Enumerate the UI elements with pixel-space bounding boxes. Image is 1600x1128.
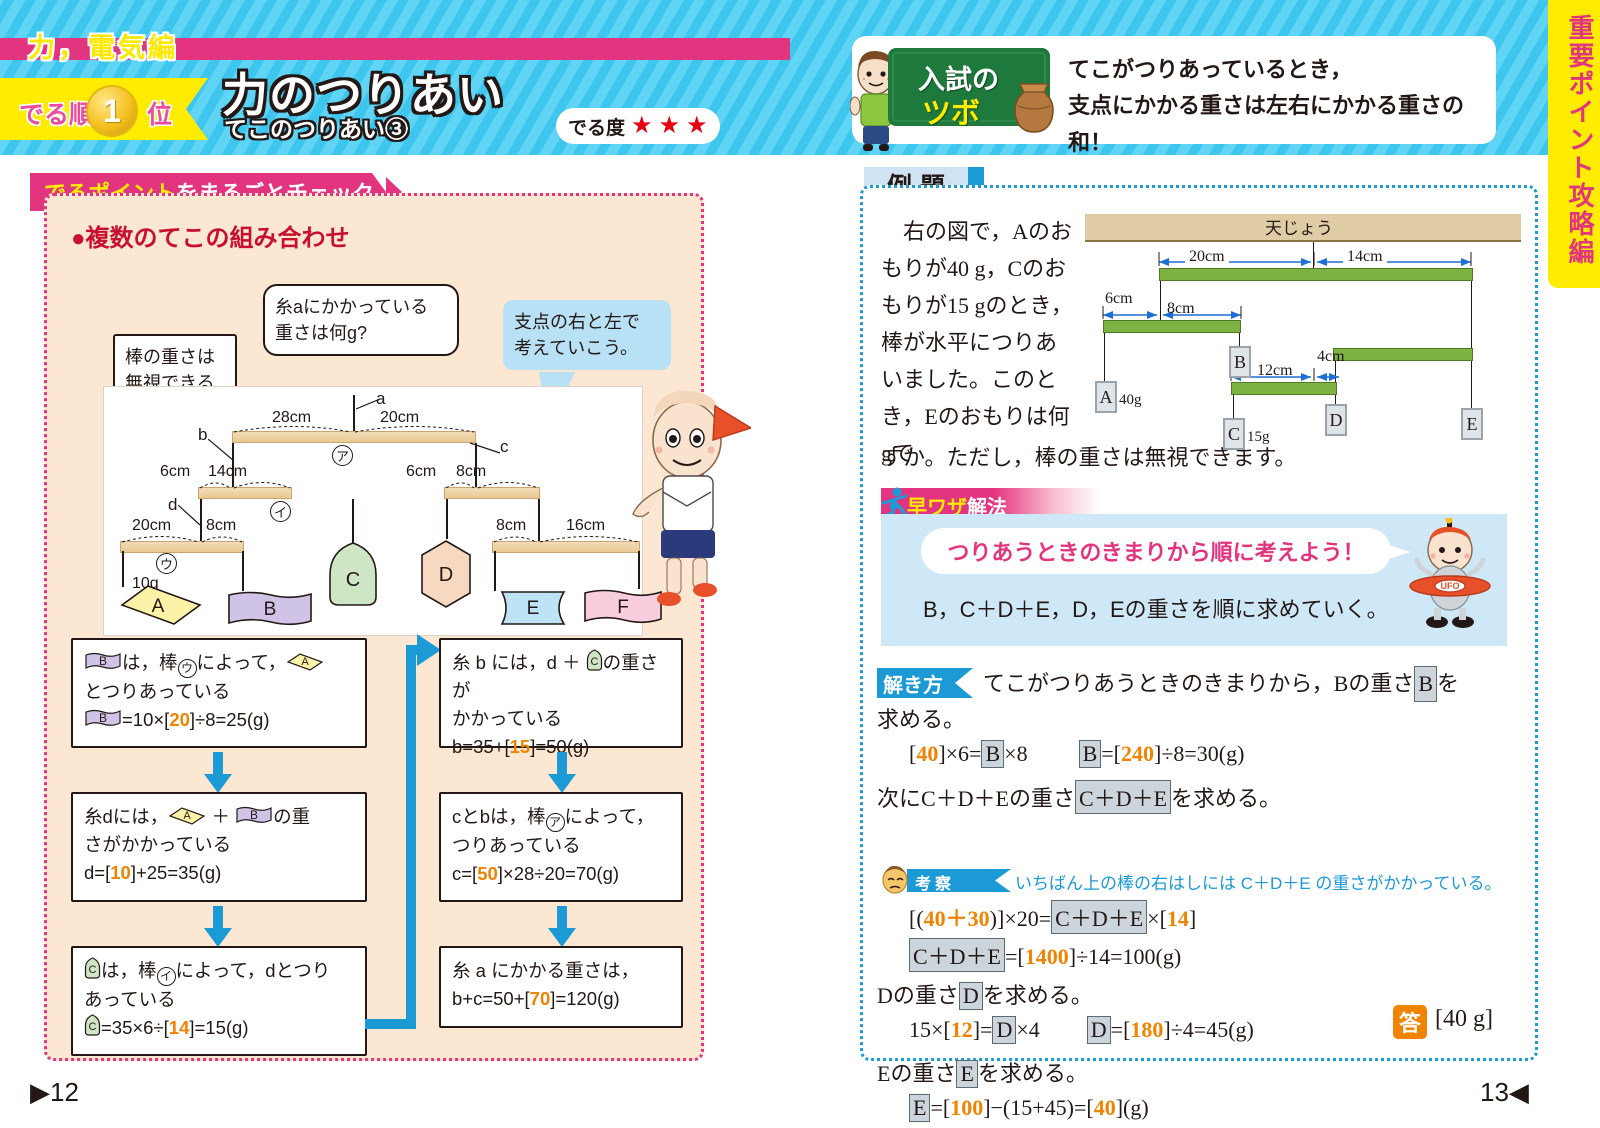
dim-20cm: 20cm: [1185, 248, 1229, 266]
tip-board-line2: ツボ: [922, 90, 980, 132]
pot-icon: [1010, 76, 1058, 134]
bar-label-i: イ: [270, 501, 291, 522]
blank-value: 70: [530, 988, 551, 1009]
step-line: あっている: [84, 986, 354, 1014]
step-box-2: 糸dには， A ＋ B の重 さがかかっている d=[10]+25=35(g): [71, 792, 367, 902]
solution-text: 次にC＋D＋Eの重さ: [877, 786, 1075, 811]
dim-6cm-left: 6cm: [160, 463, 190, 481]
var-box-D: D: [959, 982, 983, 1010]
weight-D: D: [1325, 404, 1347, 436]
callout-line: 棒の重さは: [125, 344, 225, 370]
kousatsu-text: いちばん上の棒の右はしには C＋D＋E の重さがかかっている。: [1015, 869, 1502, 894]
svg-text:C: C: [89, 1021, 97, 1033]
string-to-A: [122, 551, 124, 587]
step-box-4: 糸 b には，d ＋ C の重さが かかっている b=35+[15]=50(g): [439, 638, 683, 748]
blank-value: 14: [169, 1017, 190, 1038]
string-to-C: [1233, 395, 1234, 419]
callout-line: 支点の右と左で: [514, 309, 660, 335]
solution-line-5: Eの重さEを求める。: [877, 1056, 1088, 1088]
down-arrow-icon: [203, 752, 233, 794]
solution-line-1: てこがつりあうときのきまりから，Bの重さBを: [983, 666, 1513, 702]
bar-label-a: ア: [332, 445, 353, 466]
var-box-CDE: C＋D＋E: [1075, 780, 1171, 814]
dim-6cm-right: 6cm: [406, 463, 436, 481]
hayawaza-bubble: つりあうときのきまりから順に考えよう！: [921, 528, 1391, 574]
solution-eq-4: 15×[12]=D×4 D=[180]÷4=45(g): [909, 1016, 1254, 1044]
step-line: B =10×[20]÷8=25(g): [84, 706, 354, 734]
leader-line-b: [208, 439, 238, 463]
dim-12cm: 12cm: [1257, 362, 1293, 380]
solution-text: を求める。: [978, 1061, 1088, 1086]
weight-C-value: 15g: [1247, 429, 1270, 446]
weight-E: E: [492, 589, 574, 627]
callout-line: 重さは何g?: [275, 320, 447, 346]
solution-line-4: Dの重さDを求める。: [877, 978, 1093, 1010]
chapter-label: 力，電気編: [28, 26, 178, 65]
left-page: でるポイントをまるごとチェック ●複数のてこの組み合わせ 棒の重さは 無視できる…: [0, 155, 800, 1128]
blank-value: 40: [916, 741, 938, 766]
solution-text: Eの重さ: [877, 1061, 956, 1086]
arc-dims-i: [198, 477, 292, 489]
problem-statement-col1: 右の図で，Aのおもりが40 g，Cのおもりが15 gのとき，棒が水平につりあいま…: [881, 214, 1077, 473]
callout-line: 考えていこう。: [514, 335, 660, 361]
callout-hint: 支点の右と左で 考えていこう。: [503, 300, 671, 370]
weight-A: A: [1095, 381, 1117, 413]
step-line: つりあっている: [452, 832, 670, 860]
star-icon: ★: [659, 114, 681, 138]
page-subtitle: てこのつりあい③: [224, 118, 408, 141]
section-heading: ●複数のてこの組み合わせ: [71, 218, 350, 253]
thinking-face-icon: [881, 864, 909, 894]
solution-eq-3: C＋D＋E=[1400]÷14=100(g): [909, 938, 1181, 972]
string-label-d: d: [168, 495, 177, 515]
tag-A-icon: A: [286, 652, 324, 671]
string-to-E: [1471, 361, 1472, 409]
callout-line: 糸aにかかっている: [275, 294, 447, 320]
down-arrow-icon: [547, 752, 577, 794]
blank-value: 1400: [1025, 944, 1069, 969]
ceiling-label: 天じょう: [1081, 214, 1517, 239]
lever-figure: a 28cm 20cm ア b c: [103, 386, 643, 636]
blank-value: 240: [1121, 741, 1154, 766]
solution-text: を: [1437, 671, 1459, 696]
solution-eq-1: [40]×6=B×8 B=[240]÷8=30(g): [909, 740, 1244, 768]
var-box-CDE: C＋D＋E: [909, 938, 1005, 972]
weight-B: B: [226, 589, 314, 629]
down-arrow-icon: [547, 906, 577, 948]
textbook-spread: 力，電気編 でる順 1 位 力のつりあい てこのつりあい③ でる度 ★ ★ ★: [0, 0, 1600, 1128]
weight-C: C: [326, 541, 380, 607]
step-line: 糸 b には，d ＋ C の重さが: [452, 649, 670, 705]
svg-text:D: D: [439, 564, 453, 586]
step-line: d=[10]+25=35(g): [84, 859, 354, 887]
star-icon: ★: [686, 114, 708, 138]
weight-C: C: [1223, 418, 1245, 450]
step-line: かかっている: [452, 705, 670, 733]
page-number-left: ▶12: [30, 1077, 79, 1108]
leader-line-d: [178, 505, 202, 527]
example-panel: 右の図で，Aのおもりが40 g，Cのおもりが15 gのとき，棒が水平につりあいま…: [860, 185, 1538, 1061]
string-to-A: [1104, 333, 1105, 381]
string-to-B: [242, 551, 244, 591]
var-box-E: E: [956, 1060, 977, 1088]
svg-text:B: B: [99, 711, 107, 725]
tag-B-icon: B: [235, 806, 273, 825]
frequency-badge: でる度 ★ ★ ★: [556, 108, 720, 144]
blank-value: 180: [1130, 1017, 1163, 1042]
string-label-b: b: [198, 425, 207, 445]
var-box-D: D: [992, 1016, 1016, 1044]
var-box-CDE: C＋D＋E: [1051, 900, 1147, 934]
svg-text:C: C: [89, 964, 97, 976]
flow-connector: [365, 628, 441, 1036]
solution-line-3: 次にC＋D＋Eの重さC＋D＋Eを求める。: [877, 780, 1281, 814]
svg-text:C: C: [346, 569, 360, 591]
kousatsu-label: 考察: [915, 870, 955, 894]
step-box-3: C は，棒イによって，dとつり あっている C =35×6÷[14]=15(g): [71, 946, 367, 1056]
tag-B-icon: B: [84, 652, 122, 671]
page-number-right: 13◀: [1480, 1077, 1529, 1108]
tag-A-icon: A: [168, 806, 206, 825]
weight-A: A: [118, 583, 204, 627]
var-box-D: D: [1087, 1016, 1111, 1044]
weight-E: E: [1461, 408, 1483, 440]
weight-D: D: [418, 539, 474, 609]
blank-value: 40＋30: [924, 906, 990, 931]
var-box-B: B: [1414, 666, 1437, 702]
callout-question: 糸aにかかっている 重さは何g?: [263, 284, 459, 356]
exam-tip-callout: 入試の ツボ てこがつりあっているとき， 支点にかかる重さは左右にかかる重さの和…: [852, 36, 1496, 144]
step-line: C は，棒イによって，dとつり: [84, 957, 354, 986]
ufo-character-icon: UFO: [1405, 518, 1495, 636]
hayawaza-body-text: B，C＋D＋E，D，Eの重さを順に求めていく。: [923, 592, 1389, 624]
tip-text-line2: 支点にかかる重さは左右にかかる重さの和！: [1068, 88, 1488, 161]
svg-text:C: C: [590, 656, 598, 668]
tag-C-icon: C: [586, 649, 603, 671]
medal-icon: 1: [88, 87, 136, 135]
dim-4cm: 4cm: [1317, 348, 1345, 366]
bar-ref-u: ウ: [178, 659, 197, 678]
example-lever-figure: 天じょう 20cm 14cm: [1081, 210, 1523, 430]
tip-text: てこがつりあっているとき， 支点にかかる重さは左右にかかる重さの和！: [1068, 52, 1488, 161]
solution-text: てこがつりあうときのきまりから，Bの重さ: [983, 671, 1414, 696]
arc-dims-right-mid: [444, 477, 540, 489]
tag-B-icon: B: [84, 709, 122, 728]
string-to-D: [446, 499, 448, 539]
step-line: B は，棒ウによって， A: [84, 649, 354, 678]
frequency-label: でる度: [568, 113, 625, 140]
hayawaza-bubble-text: つりあうときのきまりから順に考えよう！: [947, 535, 1364, 567]
svg-text:A: A: [302, 656, 310, 668]
bar-top: [1159, 268, 1473, 281]
answer-value: [40 g]: [1435, 1006, 1493, 1033]
solution-text: を求める。: [1171, 786, 1281, 811]
svg-text:F: F: [617, 597, 629, 618]
svg-text:B: B: [99, 654, 107, 668]
string-to-E: [494, 551, 496, 591]
var-box-E: E: [909, 1094, 930, 1122]
step-line: さがかかっている: [84, 831, 354, 859]
blank-value: 10: [110, 862, 131, 883]
arc-dims-bottom-right: [492, 531, 640, 543]
blank-value: 50: [477, 863, 498, 884]
bar-left-mid: [1103, 320, 1241, 333]
arc-dims-u: [120, 531, 244, 543]
step-box-1: B は，棒ウによって， A とつりあっている B =10×[20]÷8=25(g…: [71, 638, 367, 748]
rank-number: 1: [103, 95, 121, 127]
step-box-6: 糸 a にかかる重さは， b+c=50+[70]=120(g): [439, 946, 683, 1028]
step-line: c=[50]×28÷20=70(g): [452, 860, 670, 888]
bar-ref-a: ア: [546, 813, 565, 832]
down-arrow-icon: [203, 906, 233, 948]
arc-dims-top: [232, 421, 476, 433]
svg-text:UFO: UFO: [1441, 581, 1460, 591]
tip-text-line1: てこがつりあっているとき，: [1068, 52, 1488, 88]
var-box-B: B: [981, 740, 1004, 768]
dim-6cm: 6cm: [1105, 290, 1133, 308]
blank-value: 20: [169, 709, 190, 730]
rank-suffix: 位: [147, 95, 172, 131]
step-box-5: cとbは，棒アによって， つりあっている c=[50]×28÷20=70(g): [439, 792, 683, 902]
page-header: 力，電気編 でる順 1 位 力のつりあい てこのつりあい③ でる度 ★ ★ ★: [0, 0, 1548, 155]
leader-line-a: [356, 397, 382, 411]
right-page: 例題 右の図で，Aのおもりが40 g，Cのおもりが15 gのとき，棒が水平につり…: [800, 155, 1600, 1128]
blank-value: 14: [1167, 906, 1189, 931]
problem-statement-col2: すか。ただし，棒の重さは無視できます。: [881, 440, 1521, 477]
step-line: C =35×6÷[14]=15(g): [84, 1014, 354, 1042]
svg-text:B: B: [250, 808, 258, 822]
blank-value: 40: [1094, 1095, 1116, 1120]
solution-tab-label: 解き方: [877, 669, 943, 698]
page-title: 力のつりあい: [222, 72, 504, 120]
bar-ref-i: イ: [157, 967, 176, 986]
solution-line-2: 求める。: [877, 702, 965, 734]
svg-text:A: A: [184, 810, 192, 822]
deru-point-panel: ●複数のてこの組み合わせ 棒の重さは 無視できる 糸aにかかっている 重さは何g…: [44, 193, 704, 1061]
rank-ribbon: でる順 1 位: [0, 78, 208, 140]
svg-text:B: B: [264, 599, 277, 620]
tag-C-icon: C: [84, 1014, 101, 1036]
bar-bottom: [1231, 382, 1337, 395]
solution-tab: 解き方: [877, 668, 973, 698]
dim-14cm: 14cm: [1343, 248, 1387, 266]
solution-eq-5: E=[100]−(15+45)=[40](g): [909, 1094, 1149, 1122]
step-line: 糸dには， A ＋ B の重: [84, 803, 354, 831]
bar-label-u: ウ: [156, 553, 177, 574]
girl-character-icon: [631, 388, 751, 610]
solution-text: Dの重さ: [877, 983, 959, 1008]
string-to-B: [1239, 333, 1240, 347]
blank-value: 100: [950, 1095, 983, 1120]
rank-prefix: でる順: [19, 95, 94, 131]
string-to-C: [352, 499, 354, 543]
tag-C-icon: C: [84, 957, 101, 979]
weight-B: B: [1229, 346, 1251, 378]
step-line: b+c=50+[70]=120(g): [452, 985, 670, 1013]
weight-A-value: 40g: [1119, 392, 1142, 409]
var-box-B: B: [1079, 740, 1102, 768]
bar-right-mid: [1333, 348, 1473, 361]
step-line: とつりあっている: [84, 678, 354, 706]
solution-eq-2: [(40＋30)]×20=C＋D＋E×[14]: [909, 900, 1196, 934]
svg-text:E: E: [527, 598, 540, 619]
blank-value: 12: [951, 1017, 973, 1042]
star-icon: ★: [631, 114, 653, 138]
dim-8cm: 8cm: [1167, 300, 1195, 318]
step-line: 糸 a にかかる重さは，: [452, 957, 670, 985]
answer-badge: 答: [1393, 1005, 1427, 1039]
hayawaza-body: つりあうときのきまりから順に考えよう！ B，C＋D＋E，D，Eの重さを順に求めて…: [881, 514, 1507, 646]
step-line: cとbは，棒アによって，: [452, 803, 670, 832]
blank-value: 15: [510, 736, 531, 757]
solution-text: を求める。: [983, 983, 1093, 1008]
string-top-right: [1471, 281, 1472, 349]
svg-text:A: A: [152, 596, 165, 617]
